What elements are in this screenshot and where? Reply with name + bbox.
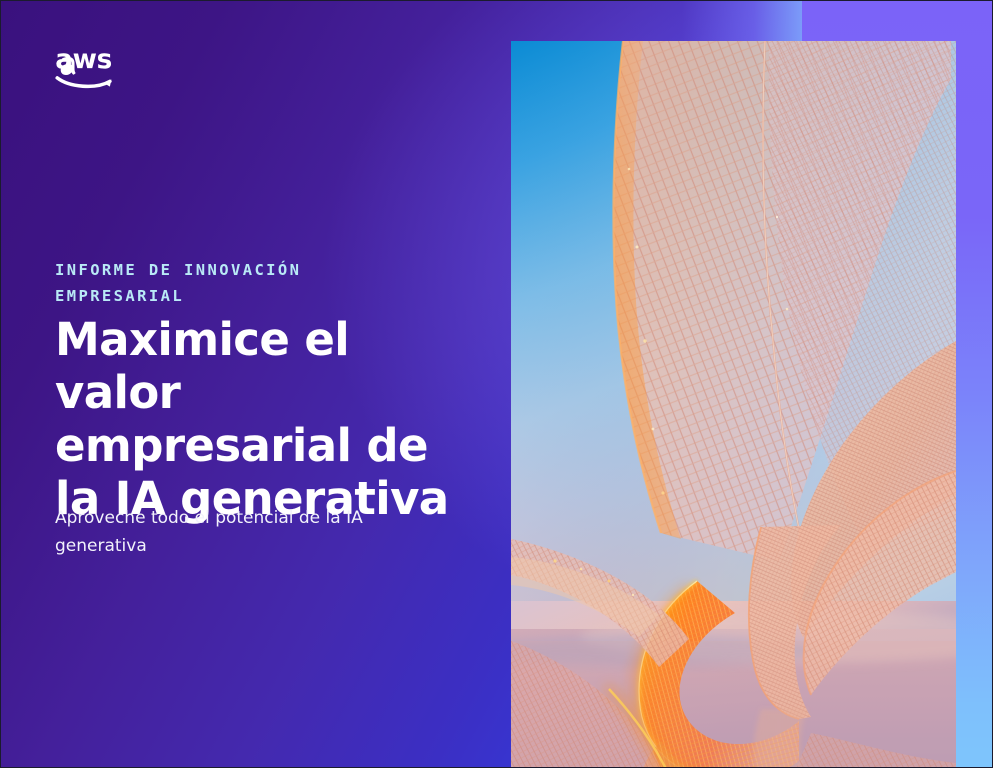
page-title: Maximice el valor empresarial de la IA g…	[55, 313, 455, 525]
cover-page: aws INFORME DE INNOVACIÓN EMPRESARIAL Ma…	[0, 0, 993, 768]
svg-text:aws: aws	[55, 45, 112, 75]
cover-artwork	[511, 41, 956, 768]
eyebrow-label: INFORME DE INNOVACIÓN EMPRESARIAL	[55, 257, 435, 309]
page-subtitle: Aproveche todo el potencial de la IA gen…	[55, 504, 405, 560]
text-column: aws INFORME DE INNOVACIÓN EMPRESARIAL Ma…	[55, 1, 475, 767]
aws-logo: aws	[55, 45, 133, 93]
